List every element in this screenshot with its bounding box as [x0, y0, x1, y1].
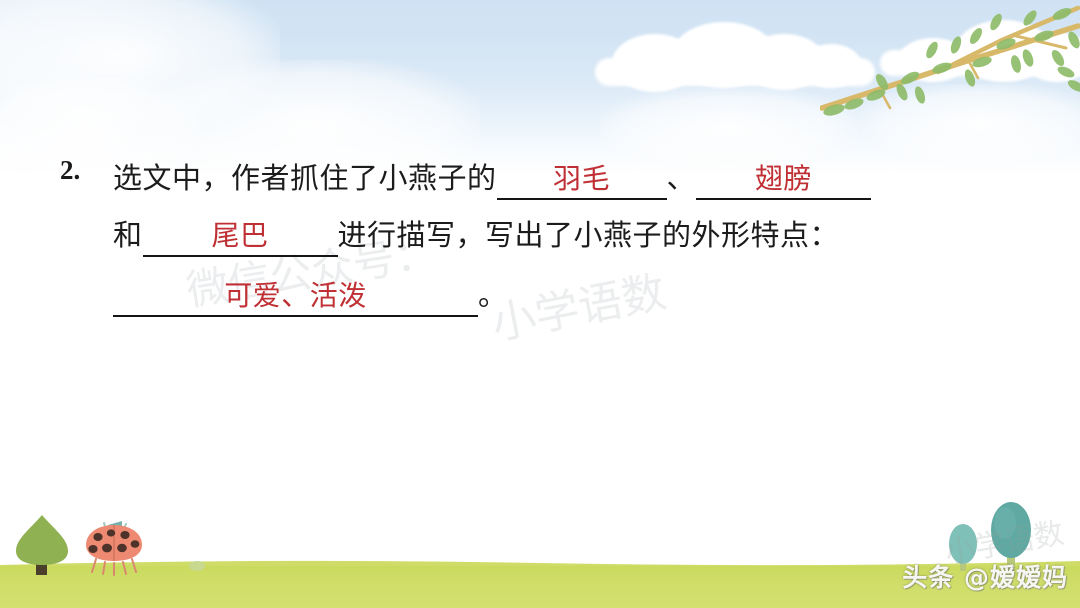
line1-prefix-text: 选文中，作者抓住了小燕子的 [113, 161, 497, 195]
line3-end-punctuation: 。 [478, 278, 508, 312]
line2-suffix-text: 进行描写，写出了小燕子的外形特点： [338, 218, 840, 252]
question-line-2: 和尾巴进行描写，写出了小燕子的外形特点： [113, 212, 839, 257]
line2-prefix-text: 和 [113, 218, 143, 252]
answer-blank-2[interactable]: 翅膀 [696, 157, 871, 200]
separator-punctuation: 、 [667, 161, 697, 195]
question-content: 2. 选文中，作者抓住了小燕子的羽毛、翅膀 和尾巴进行描写，写出了小燕子的外形特… [0, 0, 1080, 608]
answer-blank-3[interactable]: 尾巴 [143, 214, 338, 257]
toutiao-watermark: 头条 @嫒嫒妈 [902, 558, 1068, 594]
answer-blank-1[interactable]: 羽毛 [497, 157, 667, 200]
question-line-1: 选文中，作者抓住了小燕子的羽毛、翅膀 [113, 155, 871, 200]
question-number: 2. [60, 155, 80, 186]
answer-blank-4[interactable]: 可爱、活泼 [113, 274, 478, 317]
slide-canvas: 微信公众号： 小学语数 2. 选文中，作者抓住了小燕子的羽毛、翅膀 和尾巴进行描… [0, 0, 1080, 608]
question-line-3: 可爱、活泼。 [113, 272, 508, 317]
